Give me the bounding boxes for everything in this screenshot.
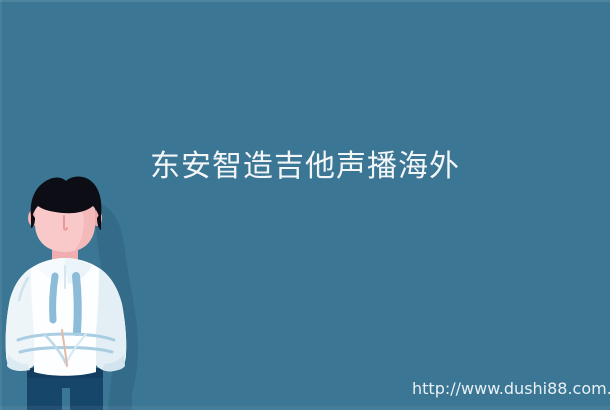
watermark-url: http://www.dushi88.com.cn [412,379,610,399]
illustration-young-man [0,172,150,410]
figure-head [28,177,102,252]
page-title: 东安智造吉他声播海外 [150,147,460,187]
hoodie-drawstring-left [53,276,55,320]
bottom-edge-strip [0,406,610,410]
poster-canvas: 东安智造吉他声播海外 http://www.dushi88.com.cn [0,0,610,410]
hoodie-drawstring-right [76,276,78,332]
